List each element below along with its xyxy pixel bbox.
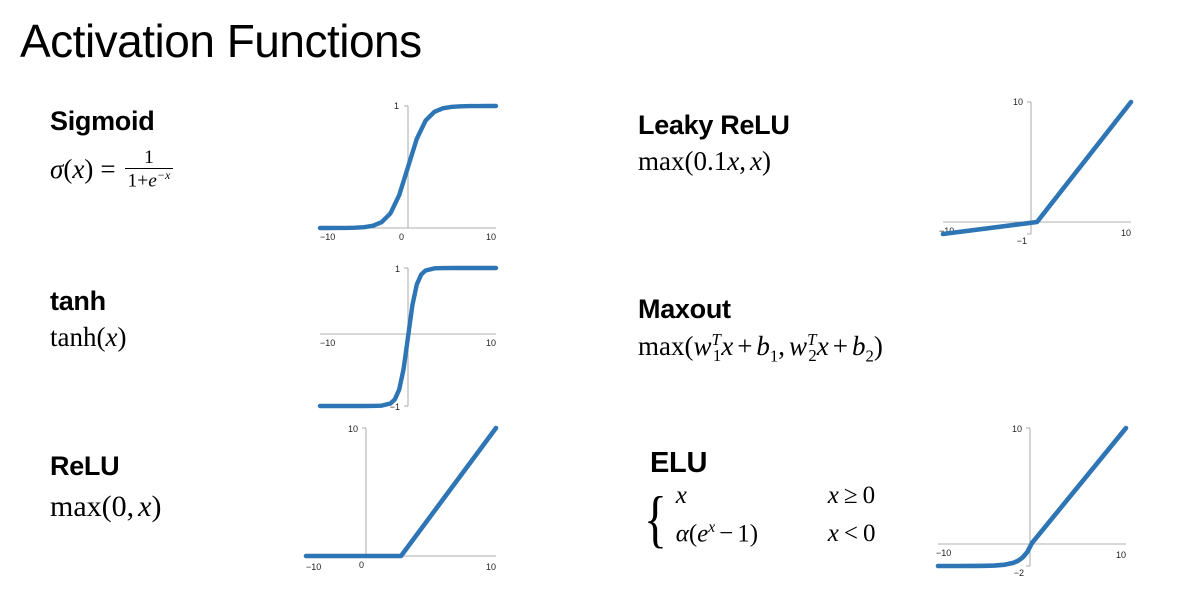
function-formula-sigmoid: σ(x)=11+e−x (50, 148, 175, 192)
elu-row2-cond-relation: < (839, 520, 863, 547)
sigmoid-xtick-neg10: −10 (320, 232, 335, 242)
elu-row2-e: e (697, 520, 708, 547)
leaky-relu-x2: x (750, 146, 762, 176)
maxout-x1: x (721, 331, 733, 361)
leaky-relu-fn-name: max (638, 146, 685, 176)
elu-xtick-10: 10 (1116, 550, 1126, 560)
relu-zero: 0 (112, 490, 127, 523)
elu-piecewise-row-2: α(ex−1) x<0 (676, 519, 876, 556)
tanh-arg-x: x (106, 322, 118, 352)
function-formula-maxout: max(wT1x+b1,wT2x+b2) (638, 330, 883, 366)
maxout-w2: w (789, 331, 807, 361)
elu-row1-cond-x: x (828, 482, 839, 509)
maxout-b2-index: 2 (865, 346, 873, 365)
elu-plot: 10 −2 −10 10 (930, 418, 1140, 580)
leaky-relu-x1: x (727, 146, 739, 176)
sigmoid-sigma-symbol: σ (50, 154, 63, 184)
function-name-relu: ReLU (50, 451, 119, 482)
tanh-rparen: ) (117, 322, 126, 352)
maxout-plus1: + (733, 331, 756, 361)
sigmoid-xtick-10: 10 (486, 232, 496, 242)
relu-plot: 10 −10 0 10 (300, 418, 510, 578)
function-name-maxout: Maxout (638, 294, 731, 325)
maxout-w1-index: 1 (713, 346, 721, 365)
maxout-fn-name: max (638, 331, 685, 361)
elu-piecewise-row-1: x x≥0 (676, 482, 876, 519)
sigmoid-fraction: 11+e−x (125, 148, 174, 192)
function-formula-elu: { x x≥0 α(ex−1) x<0 (640, 482, 875, 556)
tanh-xtick-10: 10 (486, 338, 496, 348)
relu-curve (306, 428, 496, 556)
tanh-ytick-1: 1 (395, 264, 400, 274)
elu-row2-lparen: ( (689, 520, 697, 547)
sigmoid-denom-one-plus: 1+ (128, 171, 149, 192)
maxout-x2: x (817, 331, 829, 361)
sigmoid-plot: 1 −10 0 10 (316, 92, 512, 242)
sigmoid-denominator: 1+e−x (125, 168, 174, 192)
maxout-b2: b (852, 331, 866, 361)
slide-canvas: Activation Functions Sigmoid σ(x)=11+e−x… (0, 0, 1200, 603)
elu-row2-cond-x: x (828, 520, 839, 547)
elu-row2-condition: x<0 (828, 520, 876, 548)
leaky-relu-lparen: ( (685, 146, 694, 176)
elu-row1-x: x (676, 482, 687, 509)
relu-ytick-10: 10 (348, 424, 358, 434)
relu-lparen: ( (102, 490, 112, 523)
leaky-relu-curve (943, 102, 1131, 234)
leaky-relu-plot: 10 −1 −10 10 (935, 88, 1140, 246)
elu-row2-minus: − (715, 520, 737, 547)
sigmoid-numerator: 1 (125, 148, 174, 168)
function-name-tanh: tanh (50, 286, 106, 317)
elu-curve (938, 428, 1126, 566)
elu-row1-condition: x≥0 (828, 482, 875, 510)
relu-arg-x: x (138, 490, 151, 523)
elu-row2-alpha: α (676, 520, 689, 547)
elu-row1-cond-value: 0 (863, 482, 876, 509)
leaky-relu-ytick-neg1: −1 (1017, 236, 1027, 246)
elu-ytick-10: 10 (1012, 424, 1022, 434)
elu-left-brace: { (644, 494, 667, 544)
elu-row2-rparen: ) (750, 520, 758, 547)
page-title: Activation Functions (20, 14, 422, 68)
leaky-relu-comma: , (739, 146, 750, 176)
function-name-elu: ELU (650, 447, 707, 480)
maxout-plus2: + (829, 331, 852, 361)
sigmoid-arg-x: x (72, 154, 84, 184)
relu-xtick-neg10: −10 (306, 562, 321, 572)
elu-row1-expression: x (676, 482, 828, 510)
leaky-relu-rparen: ) (762, 146, 771, 176)
relu-xtick-0: 0 (359, 560, 364, 570)
maxout-w1: w (694, 331, 712, 361)
maxout-w2-index: 2 (808, 346, 816, 365)
relu-xtick-10: 10 (486, 562, 496, 572)
tanh-plot: 1 −1 −10 10 (316, 258, 512, 413)
function-formula-relu: max(0,x) (50, 490, 161, 524)
tanh-lparen: ( (97, 322, 106, 352)
elu-ytick-neg2: −2 (1014, 568, 1024, 578)
leaky-relu-ytick-10: 10 (1013, 97, 1023, 107)
sigmoid-ytick-1: 1 (394, 101, 399, 111)
sigmoid-denom-e: e (148, 171, 157, 192)
leaky-relu-coefficient: 0.1 (694, 146, 728, 176)
maxout-rparen: ) (874, 331, 883, 361)
relu-comma: , (127, 490, 139, 523)
maxout-b1: b (756, 331, 770, 361)
tanh-xtick-neg10: −10 (320, 338, 335, 348)
function-name-leaky-relu: Leaky ReLU (638, 110, 790, 141)
function-name-sigmoid: Sigmoid (50, 106, 154, 137)
elu-xtick-neg10: −10 (936, 548, 951, 558)
sigmoid-equals: = (93, 154, 122, 184)
function-formula-tanh: tanh(x) (50, 322, 126, 353)
relu-rparen: ) (151, 490, 161, 523)
elu-row2-one: 1 (737, 520, 750, 547)
sigmoid-xtick-0: 0 (399, 232, 404, 242)
sigmoid-denom-exponent: −x (157, 168, 170, 182)
leaky-relu-xtick-10: 10 (1121, 228, 1131, 238)
tanh-fn-name: tanh (50, 322, 97, 352)
sigmoid-rparen: ) (84, 154, 93, 184)
relu-fn-name: max (50, 490, 102, 523)
elu-row1-cond-relation: ≥ (839, 482, 863, 509)
function-formula-leaky-relu: max(0.1x,x) (638, 146, 771, 177)
maxout-lparen: ( (685, 331, 694, 361)
sigmoid-lparen: ( (63, 154, 72, 184)
elu-row2-expression: α(ex−1) (676, 519, 828, 548)
elu-row2-cond-value: 0 (863, 520, 876, 547)
elu-piecewise-rows: x x≥0 α(ex−1) x<0 (676, 482, 876, 556)
maxout-comma: , (778, 331, 789, 361)
